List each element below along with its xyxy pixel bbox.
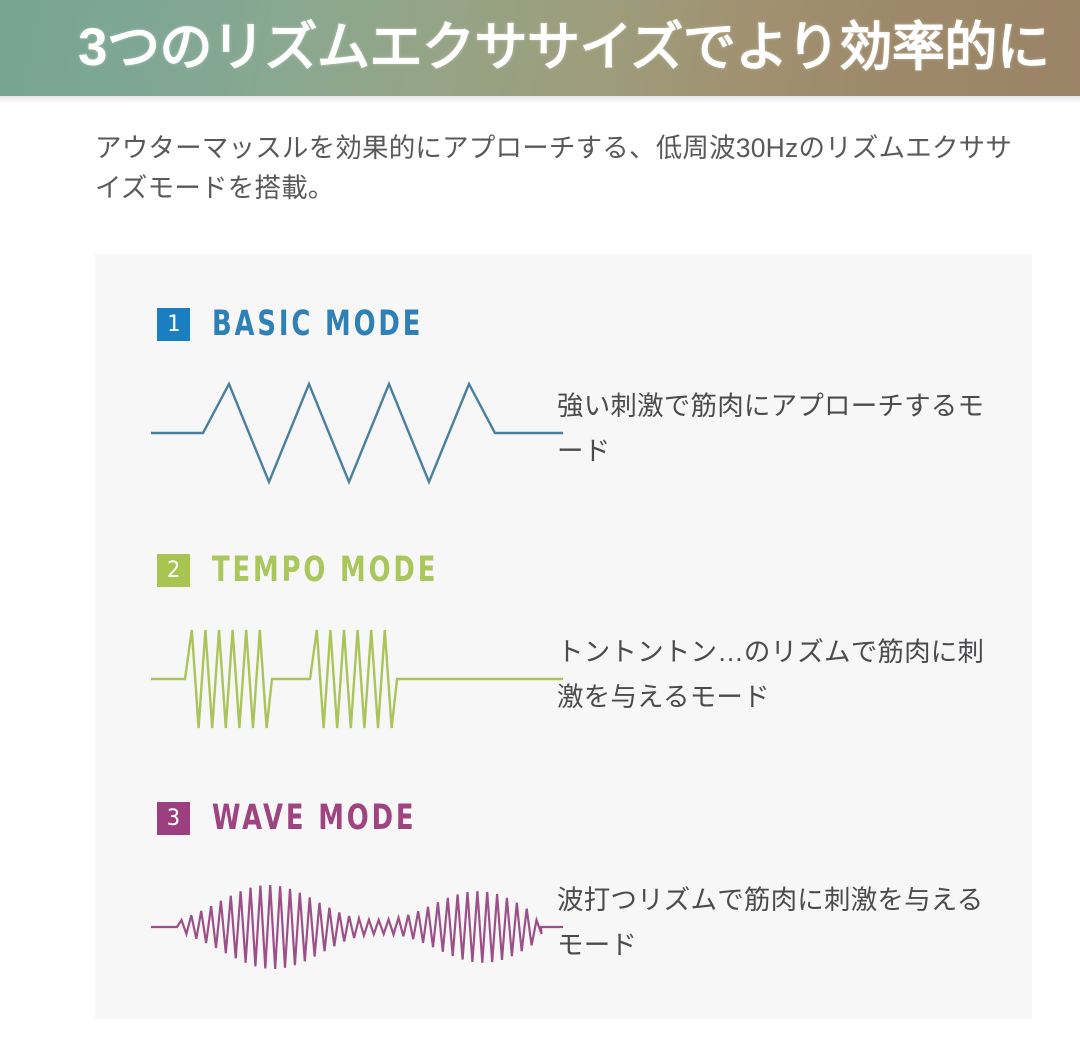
modes-panel: 1 BASIC MODE 強い刺激で筋肉にアプローチするモード 2 TEMPO … bbox=[95, 254, 1032, 1019]
page-title: 3つのリズムエクササイズでより効率的に bbox=[78, 9, 1058, 87]
triangle-wave-icon bbox=[147, 358, 567, 508]
mode-description: トントントン…のリズムで筋肉に刺激を与えるモード bbox=[557, 630, 997, 720]
mode-block-basic: 1 BASIC MODE 強い刺激で筋肉にアプローチするモード bbox=[95, 300, 1032, 550]
mode-number-badge: 3 bbox=[157, 802, 190, 835]
mode-title: TEMPO MODE bbox=[212, 552, 438, 588]
mode-block-tempo: 2 TEMPO MODE トントントン…のリズムで筋肉に刺激を与えるモード bbox=[95, 546, 1032, 796]
page-root: 3つのリズムエクササイズでより効率的に アウターマッスルを効果的にアプローチする… bbox=[0, 0, 1080, 1019]
mode-title: BASIC MODE bbox=[212, 306, 423, 342]
mode-header-basic: 1 BASIC MODE bbox=[157, 300, 470, 348]
mode-number-badge: 1 bbox=[157, 308, 190, 341]
header-divider bbox=[0, 96, 1080, 103]
header-banner: 3つのリズムエクササイズでより効率的に bbox=[0, 0, 1080, 96]
mode-number-badge: 2 bbox=[157, 554, 190, 587]
mode-title: WAVE MODE bbox=[212, 800, 416, 836]
intro-paragraph: アウターマッスルを効果的にアプローチする、低周波30Hzのリズムエクササイズモー… bbox=[95, 128, 1035, 208]
modulated-wave-icon bbox=[147, 852, 567, 1002]
burst-wave-icon bbox=[147, 604, 567, 754]
mode-header-wave: 3 WAVE MODE bbox=[157, 794, 461, 842]
mode-description: 波打つリズムで筋肉に刺激を与えるモード bbox=[557, 878, 997, 968]
mode-block-wave: 3 WAVE MODE 波打つリズムで筋肉に刺激を与えるモード bbox=[95, 794, 1032, 1044]
mode-description: 強い刺激で筋肉にアプローチするモード bbox=[557, 384, 997, 474]
mode-header-tempo: 2 TEMPO MODE bbox=[157, 546, 488, 594]
